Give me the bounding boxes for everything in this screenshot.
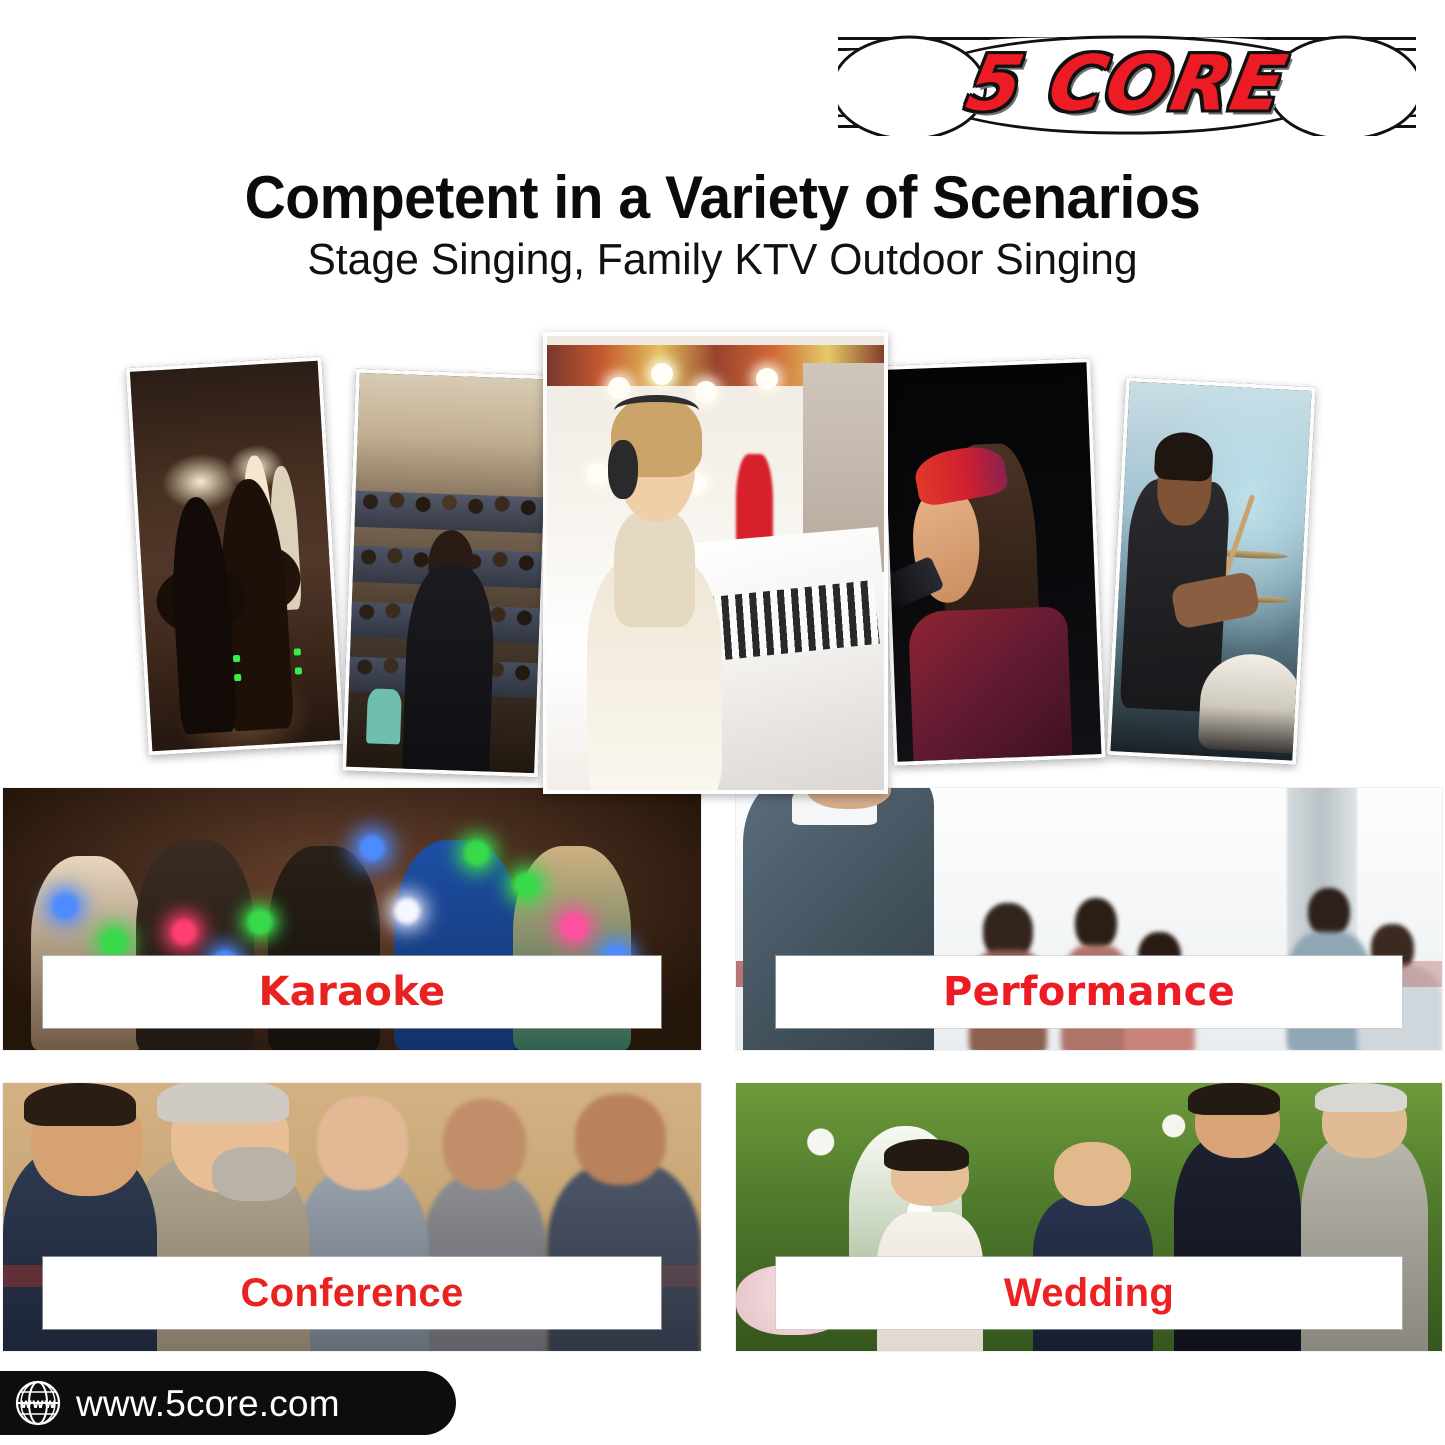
footer-website-bar[interactable]: www www.5core.com: [0, 1371, 456, 1435]
scenario-card-conference[interactable]: Conference: [2, 1082, 702, 1352]
ballet-stage-image: [130, 361, 340, 751]
website-url: www.5core.com: [76, 1385, 340, 1422]
page-subtitle: Stage Singing, Family KTV Outdoor Singin…: [22, 236, 1424, 284]
fan-panel-drummer-on-stage: [1106, 377, 1316, 764]
scenario-label-text: Conference: [240, 1273, 463, 1313]
photo-fan-gallery: [0, 320, 1445, 790]
scenario-label-text: Wedding: [1004, 1273, 1174, 1313]
auditorium-image: [346, 373, 548, 773]
scenario-card-performance[interactable]: Performance: [735, 787, 1443, 1051]
scenario-label-performance: Performance: [776, 956, 1402, 1028]
globe-www-icon: www: [14, 1379, 62, 1427]
scenario-card-wedding[interactable]: Wedding: [735, 1082, 1443, 1352]
svg-text:www: www: [20, 1397, 56, 1412]
brand-logo: 5 CORE: [838, 33, 1416, 136]
page-title: Competent in a Variety of Scenarios: [36, 166, 1409, 230]
fan-panel-child-playing-piano-with-headphones: [543, 332, 888, 794]
scenario-label-wedding: Wedding: [776, 1257, 1402, 1329]
scenario-card-karaoke[interactable]: Karaoke: [2, 787, 702, 1051]
scenario-grid: Karaoke Perfo: [0, 787, 1445, 1362]
scenario-label-conference: Conference: [43, 1257, 661, 1329]
scenario-label-text: Performance: [943, 972, 1235, 1012]
scenario-label-text: Karaoke: [259, 972, 446, 1012]
fan-panel-female-singer-with-red-bandana: [878, 358, 1105, 766]
product-infographic-page: 5 CORE Competent in a Variety of Scenari…: [0, 0, 1445, 1445]
drummer-image: [1110, 381, 1311, 760]
fan-panel-ballet-stage-performance: [126, 357, 345, 756]
child-piano-image: [547, 336, 884, 790]
fan-panel-auditorium-singer-audience: [342, 369, 552, 778]
scenario-label-karaoke: Karaoke: [43, 956, 661, 1028]
logo-wordmark: 5 CORE: [962, 45, 1293, 121]
singer-bandana-image: [883, 362, 1102, 762]
